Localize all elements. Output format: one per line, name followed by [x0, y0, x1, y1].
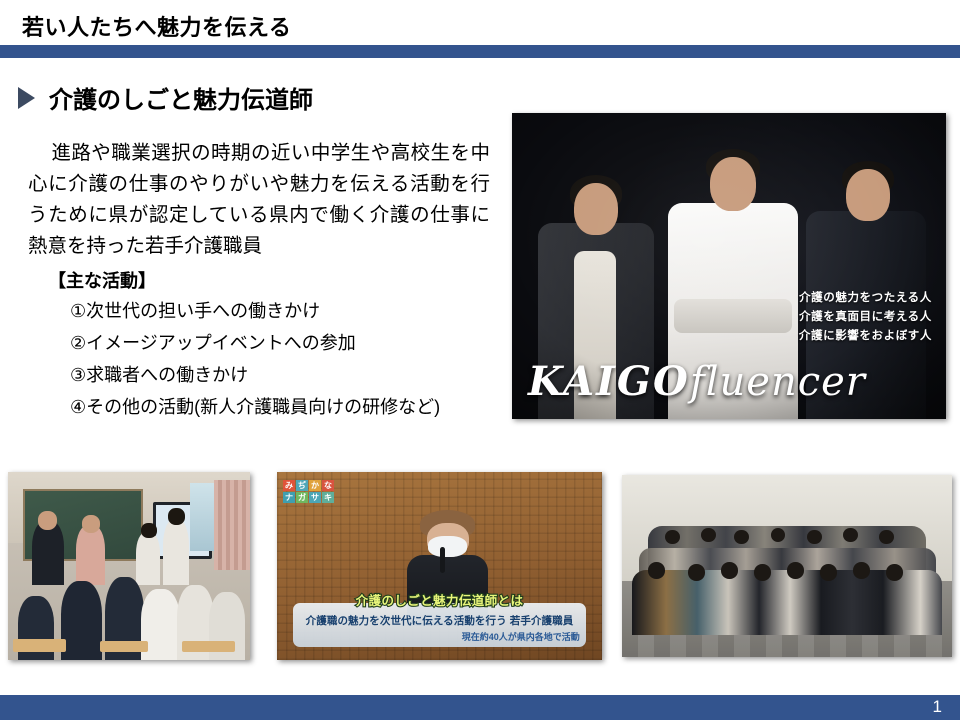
group-member-head: [754, 564, 771, 580]
tv-caption-bar: 介護のしごと魅力伝道師とは 介護職の魅力を次世代に伝える活動を行う 若手介護職員…: [293, 603, 586, 647]
tv-caption-line-2: 介護職の魅力を次世代に伝える活動を行う 若手介護職員: [299, 613, 580, 628]
activities-block: 【主な活動】 ①次世代の担い手への働きかけ ②イメージアップイベントへの参加 ③…: [48, 267, 488, 423]
group-member-head: [648, 562, 665, 578]
tv-logo-cell: ガ: [296, 492, 308, 503]
header-divider-bar: [0, 45, 960, 58]
student-head-a: [141, 523, 157, 538]
section-heading-label: 介護のしごと魅力伝道師: [49, 80, 313, 115]
page-title: 若い人たちへ魅力を伝える: [22, 10, 291, 42]
poster-overlay-line-2: 介護を真面目に考える人: [799, 308, 932, 327]
tv-station-logo: み ぢ か な ナ ガ サ キ: [283, 480, 334, 503]
classroom-desk: [13, 639, 66, 652]
list-item: ④その他の活動(新人介護職員向けの研修など): [48, 391, 488, 423]
classroom-student-seated: [61, 581, 102, 660]
kaigofluencer-poster-photo: 介護の魅力をつたえる人 介護を真面目に考える人 介護に影響をおよぼす人 KAIG…: [512, 113, 946, 419]
tv-logo-cell: な: [322, 480, 334, 491]
group-member-head: [807, 530, 822, 545]
classroom-presenter: [32, 521, 63, 585]
tv-logo-cell: サ: [309, 492, 321, 503]
group-member-head: [843, 528, 858, 543]
tv-broadcast-photo: み ぢ か な ナ ガ サ キ 介護のしごと魅力伝道師とは 介護職の魅力を次世代…: [277, 472, 602, 660]
group-member-head: [688, 564, 705, 580]
poster-overlay-line-1: 介護の魅力をつたえる人: [799, 289, 932, 308]
tv-logo-cell: か: [309, 480, 321, 491]
tv-logo-row-2: ナ ガ サ キ: [283, 492, 334, 503]
wordmark-kaigo: KAIGO: [528, 358, 690, 405]
tv-logo-cell: ぢ: [296, 480, 308, 491]
body-paragraph: 進路や職業選択の時期の近い中学生や高校生を中心に介護の仕事のやりがいや魅力を伝え…: [28, 138, 490, 262]
page-number: 1: [933, 697, 942, 717]
classroom-window: [190, 483, 214, 551]
classroom-visit-photo: [8, 472, 250, 660]
kaigofluencer-wordmark: KAIGOfluencer: [528, 358, 866, 405]
list-item: ①次世代の担い手への働きかけ: [48, 295, 488, 327]
wordmark-fluencer: fluencer: [690, 359, 866, 405]
tv-logo-cell: ナ: [283, 492, 295, 503]
tv-caption-line-3: 現在約40人が県内各地で活動: [299, 630, 580, 643]
group-photo: [622, 475, 952, 657]
student-head-b: [168, 508, 185, 525]
section-heading: 介護のしごと魅力伝道師: [18, 80, 313, 115]
activities-heading: 【主な活動】: [48, 267, 488, 295]
classroom-student-standing-b: [163, 519, 190, 585]
list-item: ②イメージアップイベントへの参加: [48, 327, 488, 359]
tv-speaker-mask: [428, 536, 467, 557]
group-member-head: [665, 530, 680, 545]
poster-overlay-text: 介護の魅力をつたえる人 介護を真面目に考える人 介護に影響をおよぼす人: [799, 289, 932, 346]
tv-logo-row-1: み ぢ か な: [283, 480, 334, 491]
classroom-curtain: [214, 480, 250, 570]
group-member-head: [853, 562, 870, 578]
classroom-desk: [182, 641, 235, 652]
tv-caption-headline: 介護のしごと魅力伝道師とは: [293, 590, 586, 609]
list-item: ③求職者への働きかけ: [48, 359, 488, 391]
tv-logo-cell: み: [283, 480, 295, 491]
group-member-head: [787, 562, 804, 578]
poster-overlay-line-3: 介護に影響をおよぼす人: [799, 327, 932, 346]
microphone-icon: [440, 547, 445, 573]
group-member-head: [721, 562, 738, 578]
classroom-staff: [76, 525, 105, 585]
classroom-desk: [100, 641, 148, 652]
presenter-head: [38, 511, 57, 530]
tv-logo-cell: キ: [322, 492, 334, 503]
group-member-head: [734, 530, 749, 545]
group-member-head: [820, 564, 837, 580]
staff-head: [82, 515, 100, 533]
triangle-right-icon: [18, 87, 35, 109]
group-member-head: [886, 564, 903, 580]
footer-bar: [0, 695, 960, 720]
classroom-student-standing-a: [136, 532, 160, 585]
